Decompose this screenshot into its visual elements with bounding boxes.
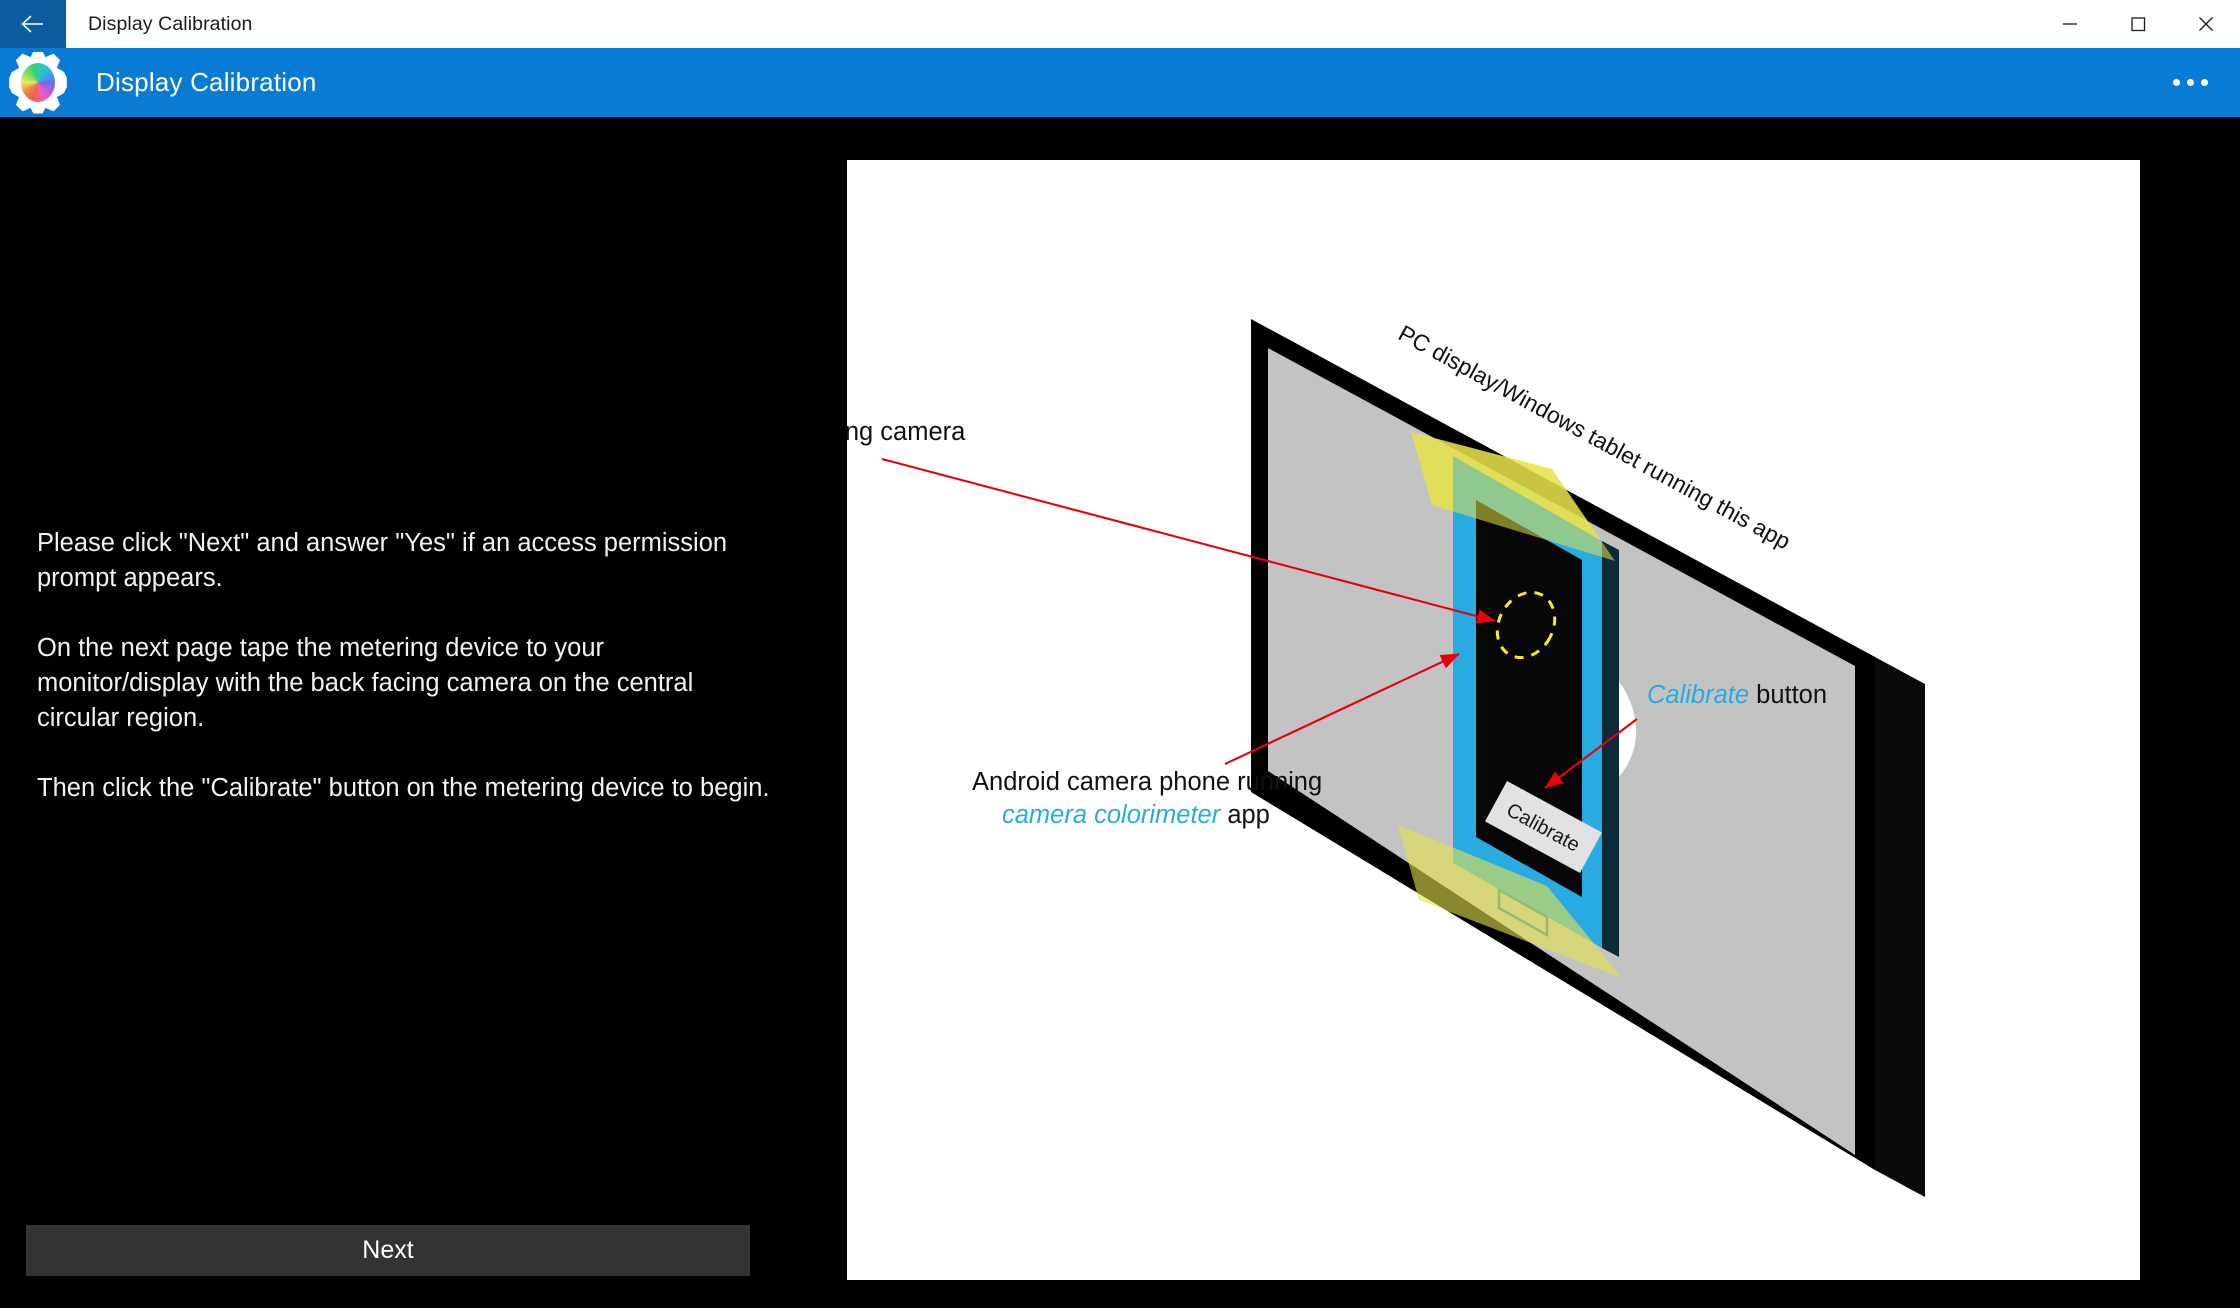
overflow-menu-button[interactable] xyxy=(2162,58,2218,108)
calibrate-callout-rest: button xyxy=(1749,681,1827,709)
maximize-icon xyxy=(2127,13,2149,35)
window-titlebar: Display Calibration xyxy=(0,0,2240,48)
instructions-block: Please click "Next" and answer "Yes" if … xyxy=(37,526,772,806)
app-header: Display Calibration xyxy=(0,48,2240,117)
instruction-paragraph-2: On the next page tape the metering devic… xyxy=(37,631,772,736)
phone-label-line2: camera colorimeter app xyxy=(1002,801,1270,829)
close-icon xyxy=(2195,13,2217,35)
overflow-dot-3 xyxy=(2201,79,2208,86)
monitor-side-depth xyxy=(1875,657,1925,1197)
minimize-icon xyxy=(2059,13,2081,35)
back-facing-camera-label: Back-facing camera xyxy=(847,418,966,446)
back-button[interactable] xyxy=(0,0,66,48)
next-button[interactable]: Next xyxy=(26,1225,750,1276)
instruction-paragraph-1: Please click "Next" and answer "Yes" if … xyxy=(37,526,772,596)
window-title: Display Calibration xyxy=(88,13,252,36)
instruction-paragraph-3: Then click the "Calibrate" button on the… xyxy=(37,771,772,806)
diagram-panel: Calibrate PC display/Windows tablet runn… xyxy=(847,160,2140,1280)
maximize-button[interactable] xyxy=(2104,0,2172,48)
color-wheel-gear-icon xyxy=(7,52,69,114)
minimize-button[interactable] xyxy=(2036,0,2104,48)
back-arrow-icon xyxy=(18,12,48,36)
calibrate-callout-emphasis: Calibrate xyxy=(1647,681,1749,709)
overflow-dot-2 xyxy=(2187,79,2194,86)
phone-label-line1: Android camera phone running xyxy=(972,768,1322,796)
phone-label-suffix: app xyxy=(1220,801,1270,829)
page-content: Please click "Next" and answer "Yes" if … xyxy=(0,117,2240,1308)
phone-side-depth xyxy=(1602,541,1619,957)
phone-label-emphasis: camera colorimeter xyxy=(1002,801,1222,829)
setup-diagram: Calibrate PC display/Windows tablet runn… xyxy=(847,160,2140,1280)
close-button[interactable] xyxy=(2172,0,2240,48)
calibrate-callout: Calibrate button xyxy=(1647,681,1827,709)
window-controls xyxy=(2036,0,2240,48)
overflow-dot-1 xyxy=(2173,79,2180,86)
app-title: Display Calibration xyxy=(96,67,317,98)
